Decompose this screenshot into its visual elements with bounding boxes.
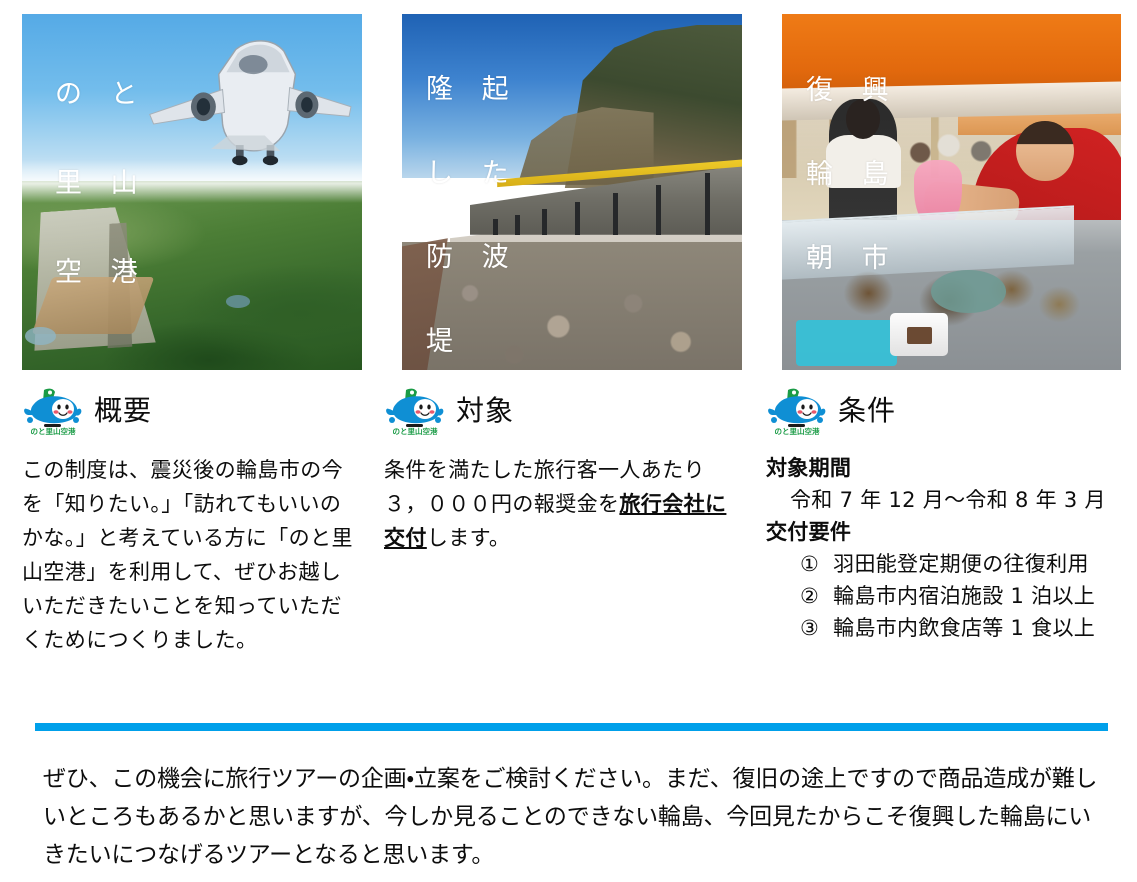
caption-line: 空 港 xyxy=(55,259,148,286)
section-header: のと里山空港 対象 xyxy=(384,385,734,437)
caption-line: 朝 市 xyxy=(806,245,899,272)
requirement-text: 輪島市内飲食店等 1 食以上 xyxy=(833,613,1095,645)
photo-caption-market: 復 興 輪 島 朝 市 xyxy=(806,50,899,329)
requirement-text: 羽田能登定期便の往復利用 xyxy=(833,549,1089,581)
requirement-item: ③ 輪島市内飲食店等 1 食以上 xyxy=(766,613,1121,645)
airplane-icon xyxy=(144,25,355,192)
closing-paragraph: ぜひ、この機会に旅行ツアーの企画・立案をご検討ください。まだ、復旧の途上ですので… xyxy=(43,760,1113,875)
period-value: 令和 7 年 12 月～令和 8 年 3 月 xyxy=(766,485,1121,517)
requirement-number: ② xyxy=(800,581,819,613)
section-jouken: のと里山空港 条件 対象期間 令和 7 年 12 月～令和 8 年 3 月 交付… xyxy=(766,385,1121,644)
section-gaiyou: のと里山空港 概要 この制度は、震災後の輪島市の今を「知りたい。」「訪れてもいい… xyxy=(22,385,367,657)
photo-card-wajima-morning-market: 復 興 輪 島 朝 市 xyxy=(782,14,1121,370)
photo-caption-breakwater: 隆 起 し た 防 波 堤 xyxy=(426,49,519,370)
conditions-block: 対象期間 令和 7 年 12 月～令和 8 年 3 月 交付要件 ① 羽田能登定… xyxy=(766,453,1121,644)
requirement-item: ② 輪島市内宿泊施設 1 泊以上 xyxy=(766,581,1121,613)
noto-satoyama-airport-mascot-icon: のと里山空港 xyxy=(766,387,828,435)
noto-satoyama-airport-mascot-icon: のと里山空港 xyxy=(22,387,84,435)
svg-text:のと里山空港: のと里山空港 xyxy=(31,426,76,435)
photo-row: の と 里 山 空 港 隆 起 xyxy=(0,0,1137,375)
svg-text:のと里山空港: のと里山空港 xyxy=(775,426,820,435)
section-header: のと里山空港 概要 xyxy=(22,385,367,437)
section-divider xyxy=(35,723,1108,731)
caption-line: の と xyxy=(55,81,148,108)
caption-line: 防 波 xyxy=(426,244,519,271)
caption-line: 隆 起 xyxy=(426,76,519,103)
section-title: 対象 xyxy=(456,397,514,425)
caption-line: 輪 島 xyxy=(806,161,899,188)
photo-card-noto-satoyama-airport: の と 里 山 空 港 xyxy=(22,14,362,370)
requirements-heading: 交付要件 xyxy=(766,517,1121,549)
caption-line: し た xyxy=(426,160,519,187)
section-title: 条件 xyxy=(838,397,896,425)
period-heading: 対象期間 xyxy=(766,453,1121,485)
noto-satoyama-airport-mascot-icon: のと里山空港 xyxy=(384,387,446,435)
photo-card-uplifted-breakwater: 隆 起 し た 防 波 堤 xyxy=(402,14,742,370)
section-body-text: 条件を満たした旅行客一人あたり３，０００円の報奨金を旅行会社に交付します。 xyxy=(384,453,729,555)
photo-caption-airport: の と 里 山 空 港 xyxy=(55,54,148,348)
caption-line: 堤 xyxy=(426,328,519,355)
caption-line: 里 山 xyxy=(55,170,148,197)
section-title: 概要 xyxy=(94,397,152,425)
section-header: のと里山空港 条件 xyxy=(766,385,1121,437)
section-taishou: のと里山空港 対象 条件を満たした旅行客一人あたり３，０００円の報奨金を旅行会社… xyxy=(384,385,734,555)
requirement-item: ① 羽田能登定期便の往復利用 xyxy=(766,549,1121,581)
svg-text:のと里山空港: のと里山空港 xyxy=(393,426,438,435)
subsidy-sentence-suffix: します。 xyxy=(427,526,511,550)
caption-line: 復 興 xyxy=(806,77,899,104)
requirement-number: ① xyxy=(800,549,819,581)
requirement-text: 輪島市内宿泊施設 1 泊以上 xyxy=(833,581,1095,613)
requirement-number: ③ xyxy=(800,613,819,645)
section-body-text: この制度は、震災後の輪島市の今を「知りたい。」「訪れてもいいのかな。」と考えてい… xyxy=(22,453,360,657)
